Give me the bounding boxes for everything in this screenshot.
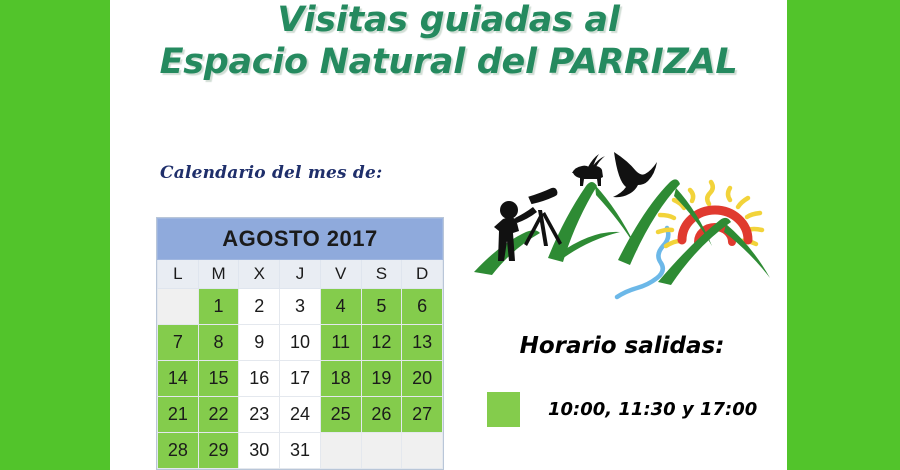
calendar-weekday-row: LMXJVSD	[158, 260, 443, 289]
calendar-week-row: 123456	[158, 289, 443, 325]
poster-title: Visitas guiadas al Espacio Natural del P…	[110, 2, 787, 82]
title-line-2: Espacio Natural del PARRIZAL	[110, 44, 787, 82]
calendar-day-20[interactable]: 20	[402, 361, 443, 397]
calendar-day-19[interactable]: 19	[361, 361, 402, 397]
poster: Visitas guiadas al Espacio Natural del P…	[0, 0, 900, 470]
calendar-day-29[interactable]: 29	[198, 433, 239, 469]
calendar-weekday-6: D	[402, 260, 443, 289]
calendar-week-row: 21222324252627	[158, 397, 443, 433]
calendar-day-empty	[320, 433, 361, 469]
calendar-day-4[interactable]: 4	[320, 289, 361, 325]
calendar-month-header: AGOSTO 2017	[158, 219, 443, 260]
calendar-day-1[interactable]: 1	[198, 289, 239, 325]
calendar-day-30[interactable]: 30	[239, 433, 280, 469]
calendar-week-row: 28293031	[158, 433, 443, 469]
calendar-week-row: 14151617181920	[158, 361, 443, 397]
calendar-day-18[interactable]: 18	[320, 361, 361, 397]
calendar-day-empty	[158, 289, 199, 325]
calendar-day-9[interactable]: 9	[239, 325, 280, 361]
bird-icon	[613, 152, 657, 197]
calendar-day-25[interactable]: 25	[320, 397, 361, 433]
calendar-day-7[interactable]: 7	[158, 325, 199, 361]
calendar-day-26[interactable]: 26	[361, 397, 402, 433]
calendar-day-3[interactable]: 3	[280, 289, 321, 325]
calendar-day-17[interactable]: 17	[280, 361, 321, 397]
calendar-day-11[interactable]: 11	[320, 325, 361, 361]
calendar-weekday-4: V	[320, 260, 361, 289]
calendar-day-8[interactable]: 8	[198, 325, 239, 361]
legend-color-swatch	[487, 392, 520, 427]
calendar-caption: Calendario del mes de:	[160, 163, 383, 183]
calendar-day-empty	[361, 433, 402, 469]
legend-row: 10:00, 11:30 y 17:00	[487, 392, 757, 427]
calendar-day-28[interactable]: 28	[158, 433, 199, 469]
calendar-day-6[interactable]: 6	[402, 289, 443, 325]
left-green-band	[0, 0, 110, 470]
calendar-month-row: AGOSTO 2017	[158, 219, 443, 260]
title-line-1: Visitas guiadas al	[110, 2, 787, 40]
calendar-day-16[interactable]: 16	[239, 361, 280, 397]
calendar-day-empty	[402, 433, 443, 469]
calendar-day-27[interactable]: 27	[402, 397, 443, 433]
calendar-weekday-5: S	[361, 260, 402, 289]
ibex-icon	[572, 154, 605, 186]
calendar-week-row: 78910111213	[158, 325, 443, 361]
calendar-day-15[interactable]: 15	[198, 361, 239, 397]
right-green-band	[787, 0, 900, 470]
calendar-day-14[interactable]: 14	[158, 361, 199, 397]
parrizal-logo	[462, 140, 782, 300]
calendar-day-13[interactable]: 13	[402, 325, 443, 361]
calendar-day-21[interactable]: 21	[158, 397, 199, 433]
calendar-day-31[interactable]: 31	[280, 433, 321, 469]
calendar-day-2[interactable]: 2	[239, 289, 280, 325]
calendar-day-10[interactable]: 10	[280, 325, 321, 361]
calendar-day-23[interactable]: 23	[239, 397, 280, 433]
calendar-day-12[interactable]: 12	[361, 325, 402, 361]
schedule-title: Horario salidas:	[462, 333, 782, 359]
calendar-weekday-0: L	[158, 260, 199, 289]
calendar-weekday-1: M	[198, 260, 239, 289]
calendar-table: AGOSTO 2017 LMXJVSD 12345678910111213141…	[157, 218, 443, 469]
legend-times-label: 10:00, 11:30 y 17:00	[548, 399, 757, 420]
calendar-day-24[interactable]: 24	[280, 397, 321, 433]
calendar-body: 1234567891011121314151617181920212223242…	[158, 289, 443, 469]
calendar-weekday-2: X	[239, 260, 280, 289]
calendar-day-22[interactable]: 22	[198, 397, 239, 433]
calendar-day-5[interactable]: 5	[361, 289, 402, 325]
calendar-weekday-3: J	[280, 260, 321, 289]
